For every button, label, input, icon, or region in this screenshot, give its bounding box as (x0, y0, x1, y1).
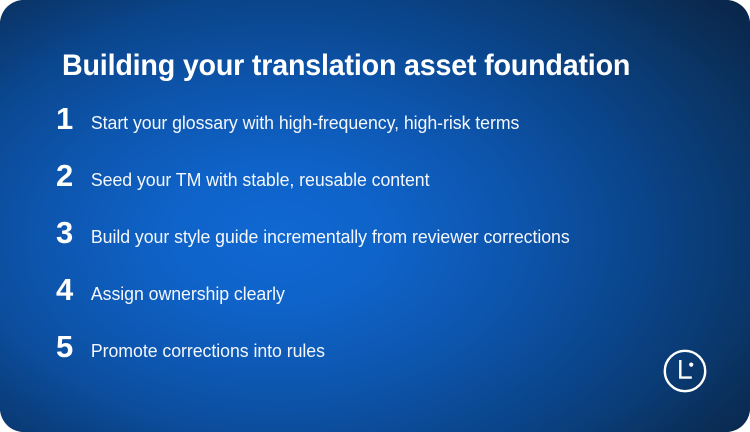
step-label: Assign ownership clearly (82, 283, 697, 305)
info-card: Building your translation asset foundati… (0, 0, 750, 432)
list-item: 5 Promote corrections into rules (56, 331, 706, 388)
page-title: Building your translation asset foundati… (62, 49, 630, 83)
list-item: 2 Seed your TM with stable, reusable con… (56, 160, 706, 217)
list-item: 3 Build your style guide incrementally f… (56, 217, 706, 274)
list-item: 4 Assign ownership clearly (56, 274, 706, 331)
list-item: 1 Start your glossary with high-frequenc… (56, 103, 706, 160)
circle-l-logo-icon (661, 347, 709, 395)
step-number: 5 (56, 331, 82, 362)
step-number: 1 (56, 103, 82, 134)
steps-list: 1 Start your glossary with high-frequenc… (56, 103, 706, 388)
step-number: 2 (56, 160, 82, 191)
step-label: Start your glossary with high-frequency,… (82, 112, 697, 134)
step-number: 4 (56, 274, 82, 305)
step-label: Promote corrections into rules (82, 340, 697, 362)
step-number: 3 (56, 217, 82, 248)
step-label: Seed your TM with stable, reusable conte… (82, 169, 697, 191)
card-content: Building your translation asset foundati… (0, 0, 750, 432)
step-label: Build your style guide incrementally fro… (82, 226, 697, 248)
